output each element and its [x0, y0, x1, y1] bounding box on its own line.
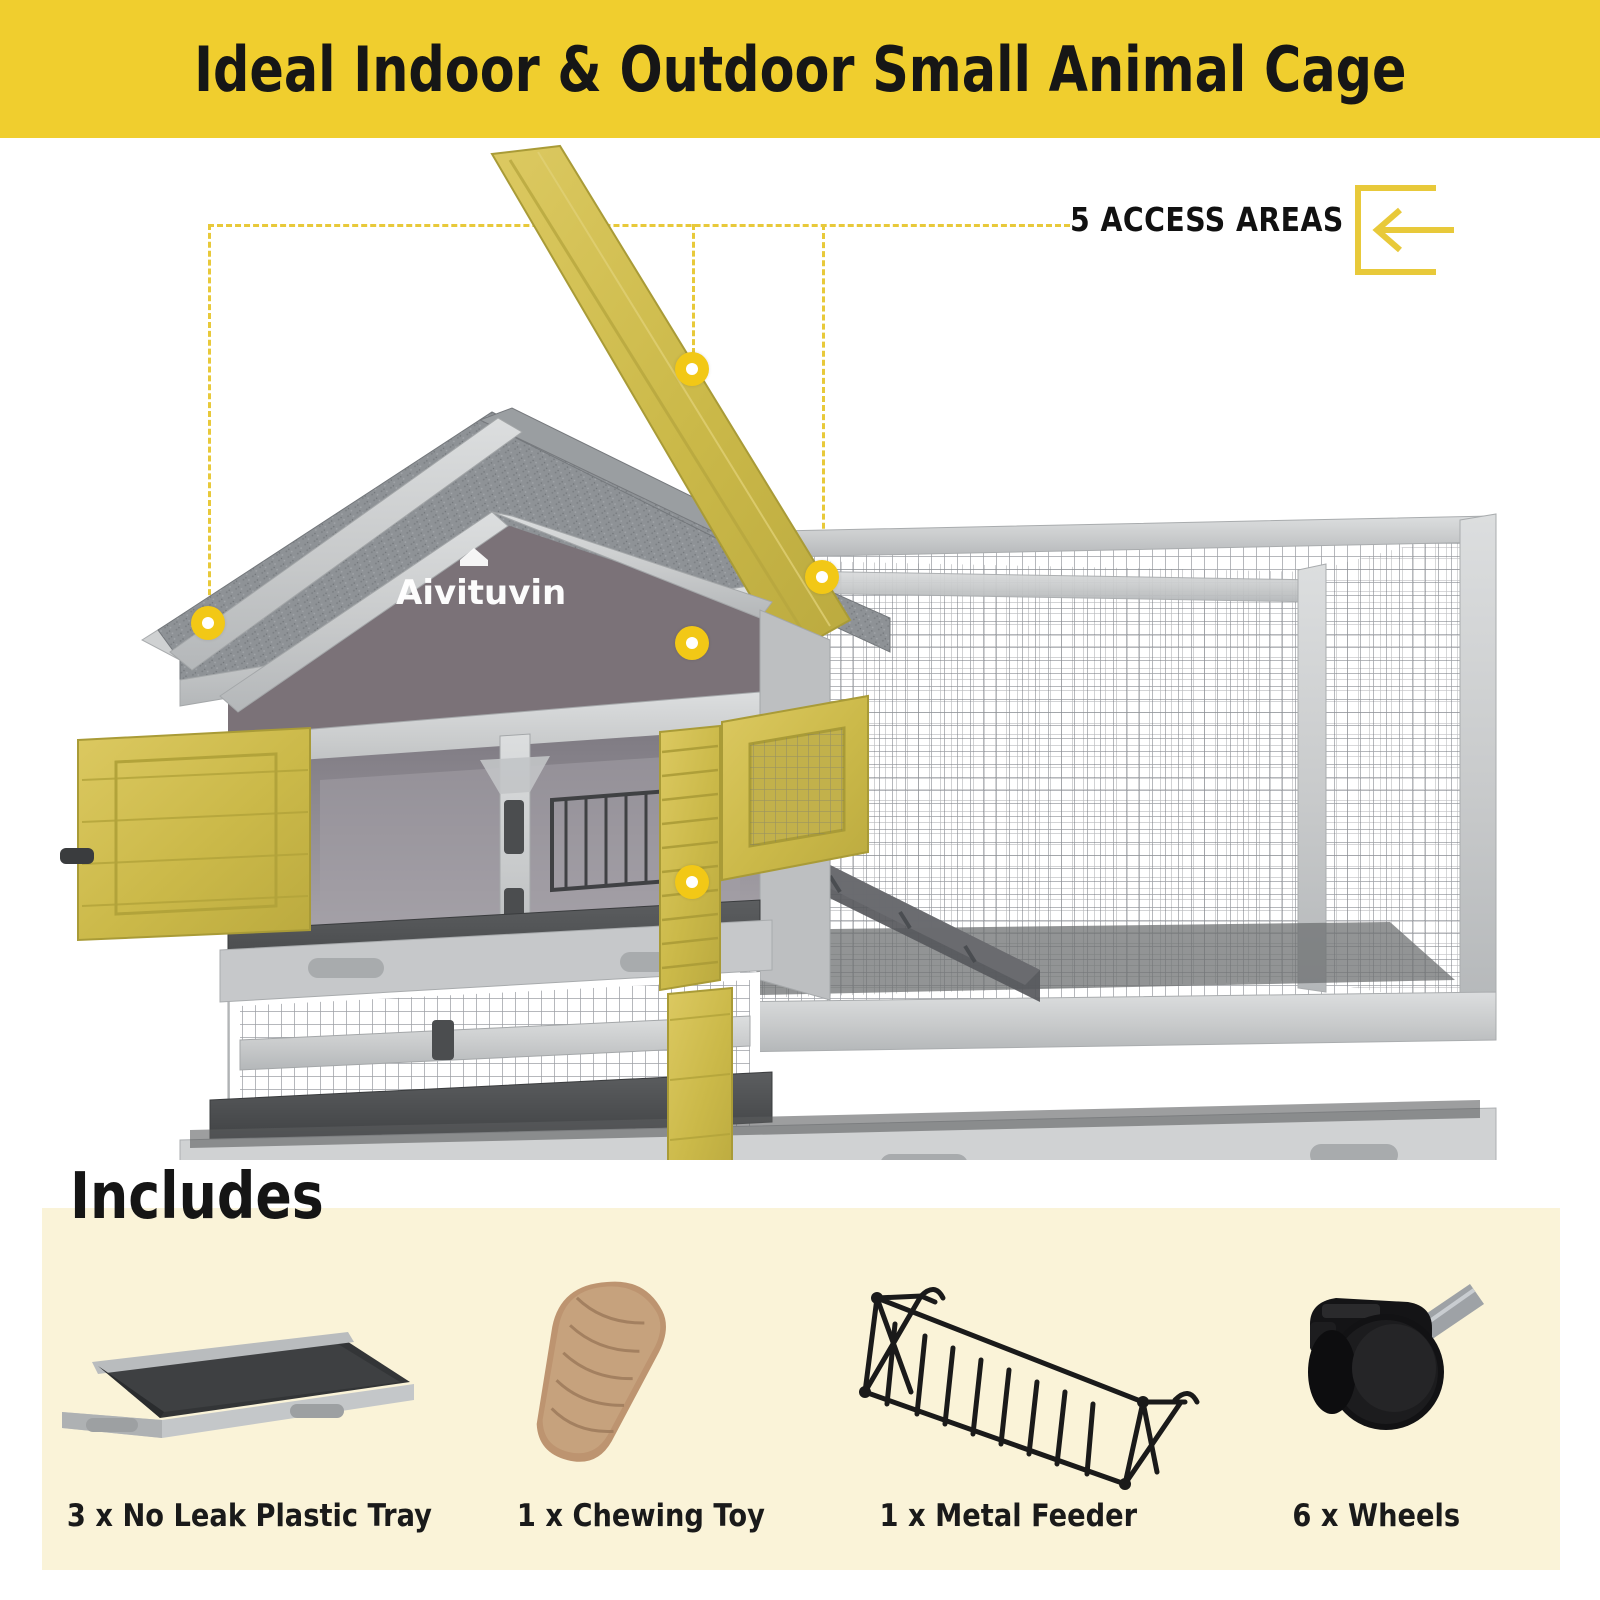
include-label: 1 x Chewing Toy — [517, 1498, 765, 1534]
includes-list: 3 x No Leak Plastic Tray — [42, 1208, 1560, 1570]
include-label: 6 x Wheels — [1292, 1498, 1460, 1534]
include-label: 3 x No Leak Plastic Tray — [67, 1498, 432, 1534]
list-item: 6 x Wheels — [1192, 1208, 1560, 1570]
chewing-toy-icon — [457, 1262, 825, 1492]
header-banner: Ideal Indoor & Outdoor Small Animal Cage — [0, 0, 1600, 138]
access-door-left — [60, 728, 310, 940]
access-door-middle-louvered — [660, 726, 720, 990]
access-marker-1 — [191, 606, 225, 640]
svg-text:Aivituvin: Aivituvin — [396, 573, 566, 613]
product-photo-rabbit-hutch: Aivituvin — [60, 140, 1540, 1160]
include-label: 1 x Metal Feeder — [880, 1498, 1138, 1534]
access-marker-2 — [675, 352, 709, 386]
access-door-lower — [668, 988, 732, 1160]
page-title: Ideal Indoor & Outdoor Small Animal Cage — [194, 33, 1406, 106]
list-item: 3 x No Leak Plastic Tray — [42, 1208, 457, 1570]
access-marker-5 — [675, 865, 709, 899]
list-item: 1 x Chewing Toy — [457, 1208, 825, 1570]
includes-heading: Includes — [70, 1160, 324, 1234]
access-marker-3 — [805, 560, 839, 594]
list-item: 1 x Metal Feeder — [825, 1208, 1193, 1570]
plastic-tray-icon — [42, 1262, 457, 1492]
metal-feeder-icon — [825, 1262, 1193, 1492]
access-door-upper-right — [722, 696, 868, 880]
caster-wheel-icon — [1192, 1262, 1560, 1492]
infographic-stage: Ideal Indoor & Outdoor Small Animal Cage… — [0, 0, 1600, 1600]
access-marker-4 — [675, 626, 709, 660]
hutch-illustration: Aivituvin — [60, 140, 1540, 1160]
